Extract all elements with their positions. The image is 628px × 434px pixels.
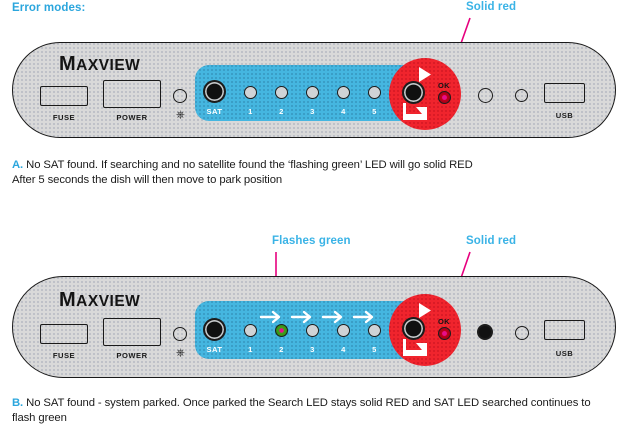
led-3-label-b: 3 xyxy=(304,345,321,354)
brand-lead-b: M xyxy=(59,289,76,311)
led-5-b xyxy=(368,324,381,337)
caption-b: B. No SAT found - system parked. Once pa… xyxy=(12,396,622,425)
sat-jack-b[interactable] xyxy=(203,318,226,341)
receiver-panel-b: MAXVIEW FUSE POWER ⎈ SAT 1 xyxy=(12,276,616,378)
led-2-b xyxy=(275,324,288,337)
led-3-b xyxy=(306,324,319,337)
ok-led-b xyxy=(438,327,451,340)
led-2-label-b: 2 xyxy=(273,345,290,354)
led-4-label-b: 4 xyxy=(335,345,352,354)
caption-b-mark: B. xyxy=(12,397,23,409)
led-4-b xyxy=(337,324,350,337)
search-jack-b[interactable] xyxy=(402,317,425,340)
power-socket-b[interactable] xyxy=(103,318,161,346)
ok-label-b: OK xyxy=(438,317,450,326)
aux-circle-1-b[interactable] xyxy=(477,324,493,340)
error-modes-figure: Error modes: Solid red MAXVIEW FUSE POWE… xyxy=(0,0,628,434)
usb-label-b: USB xyxy=(544,349,585,358)
brand-rest-b: AXVIEW xyxy=(76,293,140,310)
power-button-b[interactable] xyxy=(173,327,187,341)
caption-b-line1: No SAT found - system parked. Once parke… xyxy=(26,397,590,409)
fuse-label-b: FUSE xyxy=(40,351,88,360)
led-1-b xyxy=(244,324,257,337)
led-5-label-b: 5 xyxy=(366,345,383,354)
power-symbol-icon-b: ⎈ xyxy=(176,348,185,359)
brand-wordmark-b: MAXVIEW xyxy=(59,289,140,312)
power-label-b: POWER xyxy=(103,351,161,360)
usb-socket-b[interactable] xyxy=(544,320,585,340)
caption-b-line2: flash green xyxy=(12,412,67,424)
sat-label-b: SAT xyxy=(203,345,226,354)
aux-circle-2-b[interactable] xyxy=(515,326,529,340)
fuse-socket-b[interactable] xyxy=(40,324,88,344)
led-1-label-b: 1 xyxy=(242,345,259,354)
